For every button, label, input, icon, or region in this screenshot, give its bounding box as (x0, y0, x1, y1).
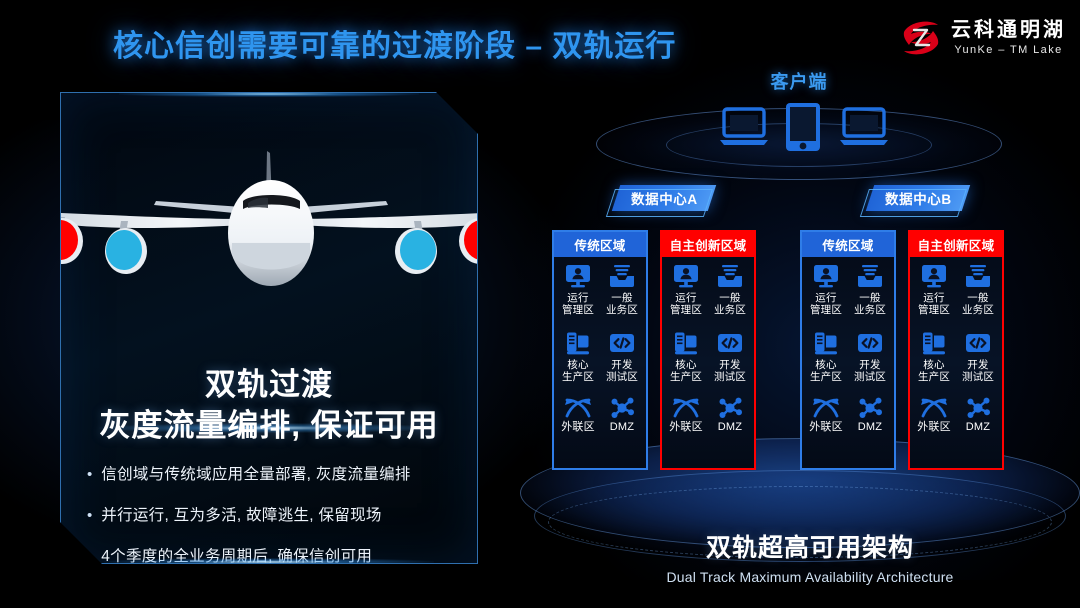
bullet-dot-icon: • (87, 465, 92, 485)
zone-cell-label: DMZ (858, 421, 882, 434)
headline-line-1: 双轨过渡 (61, 365, 477, 406)
left-feature-panel: 双轨过渡 灰度流量编排, 保证可用 • 信创域与传统域应用全量部署, 灰度流量编… (60, 92, 478, 564)
code-brackets-icon (608, 330, 636, 356)
zone-cell[interactable]: 一般 业务区 (708, 263, 752, 330)
admin-console-icon (920, 263, 948, 289)
zone-cell[interactable]: 外联区 (556, 397, 600, 464)
server-stack-icon (812, 330, 840, 356)
zone-cell-label: 核心 生产区 (810, 359, 842, 384)
crossing-arrows-icon (812, 397, 840, 419)
zone-cell-label: 运行 管理区 (562, 292, 594, 317)
zone-cell-label: 开发 测试区 (854, 359, 886, 384)
zone-cell[interactable]: 开发 测试区 (956, 330, 1000, 397)
zone-cell-label: 开发 测试区 (714, 359, 746, 384)
zone-cell[interactable]: DMZ (848, 397, 892, 464)
zone-panel-traditional-1[interactable]: 传统区域运行 管理区一般 业务区核心 生产区开发 测试区外联区DMZ (552, 230, 648, 470)
zone-header: 传统区域 (802, 232, 894, 257)
logo-name-en: YunKe – TM Lake (954, 45, 1062, 56)
laptop-icon (720, 109, 768, 145)
left-headline: 双轨过渡 灰度流量编排, 保证可用 (61, 365, 477, 447)
zone-cell[interactable]: 核心 生产区 (664, 330, 708, 397)
zone-cell-label: 开发 测试区 (606, 359, 638, 384)
zone-panel-innovation-4[interactable]: 自主创新区域运行 管理区一般 业务区核心 生产区开发 测试区外联区DMZ (908, 230, 1004, 470)
zone-cell[interactable]: DMZ (708, 397, 752, 464)
panel-bottom-glow (104, 558, 434, 563)
zone-cell[interactable]: 运行 管理区 (664, 263, 708, 330)
network-nodes-icon (608, 397, 636, 419)
panel-top-glow (119, 93, 419, 97)
zone-cell-label: DMZ (718, 421, 742, 434)
tablet-icon (786, 103, 820, 151)
bullet-list: • 信创域与传统域应用全量部署, 灰度流量编排 • 并行运行, 互为多活, 故障… (87, 465, 461, 563)
zone-header: 传统区域 (554, 232, 646, 257)
zone-cell[interactable]: 一般 业务区 (956, 263, 1000, 330)
zone-cell[interactable]: DMZ (600, 397, 644, 464)
zone-cell[interactable]: 核心 生产区 (804, 330, 848, 397)
bullet-text: 信创域与传统域应用全量部署, 灰度流量编排 (101, 465, 410, 485)
code-brackets-icon (716, 330, 744, 356)
zone-cell[interactable]: 外联区 (664, 397, 708, 464)
server-stack-icon (564, 330, 592, 356)
zone-cell-grid: 运行 管理区一般 业务区核心 生产区开发 测试区外联区DMZ (662, 257, 754, 468)
slide-canvas: 核心信创需要可靠的过渡阶段 – 双轨运行 云科通明湖 YunKe – TM La… (0, 0, 1080, 608)
zone-cell[interactable]: 核心 生产区 (556, 330, 600, 397)
zone-cell[interactable]: 一般 业务区 (600, 263, 644, 330)
zone-cell-label: 开发 测试区 (962, 359, 994, 384)
zone-cell-label: DMZ (610, 421, 634, 434)
datacenter-a-label: 数据中心A (631, 188, 698, 208)
zone-cell-label: 一般 业务区 (714, 292, 746, 317)
server-stack-icon (920, 330, 948, 356)
admin-console-icon (672, 263, 700, 289)
zone-cell[interactable]: 开发 测试区 (708, 330, 752, 397)
zone-cell-label: DMZ (966, 421, 990, 434)
zone-cell[interactable]: 开发 测试区 (848, 330, 892, 397)
datacenter-a-banner[interactable]: 数据中心A (612, 185, 716, 211)
zone-cell[interactable]: 核心 生产区 (912, 330, 956, 397)
inbox-tray-icon (964, 263, 992, 289)
zone-cell[interactable]: 运行 管理区 (804, 263, 848, 330)
code-brackets-icon (964, 330, 992, 356)
client-tier-label: 客户端 (744, 68, 854, 94)
zone-cell[interactable]: 一般 业务区 (848, 263, 892, 330)
zone-cell-grid: 运行 管理区一般 业务区核心 生产区开发 测试区外联区DMZ (554, 257, 646, 468)
zone-cell-label: 一般 业务区 (606, 292, 638, 317)
zone-cell-label: 运行 管理区 (810, 292, 842, 317)
zone-cell[interactable]: 外联区 (912, 397, 956, 464)
airplane-illustration (61, 123, 477, 333)
zone-cell-label: 核心 生产区 (670, 359, 702, 384)
zone-header: 自主创新区域 (662, 232, 754, 257)
bullet-dot-icon: • (87, 547, 92, 563)
zone-cell[interactable]: DMZ (956, 397, 1000, 464)
server-stack-icon (672, 330, 700, 356)
zone-cell[interactable]: 运行 管理区 (556, 263, 600, 330)
zone-panel-innovation-2[interactable]: 自主创新区域运行 管理区一般 业务区核心 生产区开发 测试区外联区DMZ (660, 230, 756, 470)
admin-console-icon (812, 263, 840, 289)
architecture-title-cn: 双轨超高可用架构 (560, 528, 1060, 564)
page-title: 核心信创需要可靠的过渡阶段 – 双轨运行 (113, 21, 676, 65)
crossing-arrows-icon (672, 397, 700, 419)
code-brackets-icon (856, 330, 884, 356)
architecture-title: 双轨超高可用架构 Dual Track Maximum Availability… (560, 528, 1060, 585)
inbox-tray-icon (608, 263, 636, 289)
zone-cell-label: 外联区 (917, 421, 951, 434)
crossing-arrows-icon (920, 397, 948, 419)
headline-line-2: 灰度流量编排, 保证可用 (61, 406, 477, 447)
logo-name-cn: 云科通明湖 (951, 20, 1066, 40)
swirl-logo-icon (900, 18, 942, 58)
zone-cell-label: 核心 生产区 (918, 359, 950, 384)
architecture-title-en: Dual Track Maximum Availability Architec… (560, 569, 1060, 585)
client-devices (720, 103, 888, 155)
bullet-dot-icon: • (87, 506, 92, 526)
zone-cell-label: 一般 业务区 (854, 292, 886, 317)
network-nodes-icon (716, 397, 744, 419)
zone-cell-label: 运行 管理区 (918, 292, 950, 317)
zone-cell-label: 外联区 (561, 421, 595, 434)
inbox-tray-icon (716, 263, 744, 289)
list-item: • 并行运行, 互为多活, 故障逃生, 保留现场 (87, 506, 461, 526)
zone-cell-label: 运行 管理区 (670, 292, 702, 317)
bullet-text: 并行运行, 互为多活, 故障逃生, 保留现场 (101, 506, 381, 526)
inbox-tray-icon (856, 263, 884, 289)
zone-cell-label: 一般 业务区 (962, 292, 994, 317)
zone-header: 自主创新区域 (910, 232, 1002, 257)
zone-cell-label: 核心 生产区 (562, 359, 594, 384)
network-nodes-icon (964, 397, 992, 419)
zone-cell[interactable]: 运行 管理区 (912, 263, 956, 330)
brand-logo: 云科通明湖 YunKe – TM Lake (900, 18, 1066, 58)
zone-cell-label: 外联区 (669, 421, 703, 434)
laptop-icon (840, 109, 888, 145)
zone-cell-grid: 运行 管理区一般 业务区核心 生产区开发 测试区外联区DMZ (910, 257, 1002, 468)
crossing-arrows-icon (564, 397, 592, 419)
admin-console-icon (564, 263, 592, 289)
network-nodes-icon (856, 397, 884, 419)
zone-cell[interactable]: 开发 测试区 (600, 330, 644, 397)
datacenter-b-banner[interactable]: 数据中心B (866, 185, 970, 211)
zone-cell-grid: 运行 管理区一般 业务区核心 生产区开发 测试区外联区DMZ (802, 257, 894, 468)
zone-cell[interactable]: 外联区 (804, 397, 848, 464)
zone-panel-traditional-3[interactable]: 传统区域运行 管理区一般 业务区核心 生产区开发 测试区外联区DMZ (800, 230, 896, 470)
list-item: • 信创域与传统域应用全量部署, 灰度流量编排 (87, 465, 461, 485)
datacenter-b-label: 数据中心B (885, 188, 952, 208)
zone-cell-label: 外联区 (809, 421, 843, 434)
